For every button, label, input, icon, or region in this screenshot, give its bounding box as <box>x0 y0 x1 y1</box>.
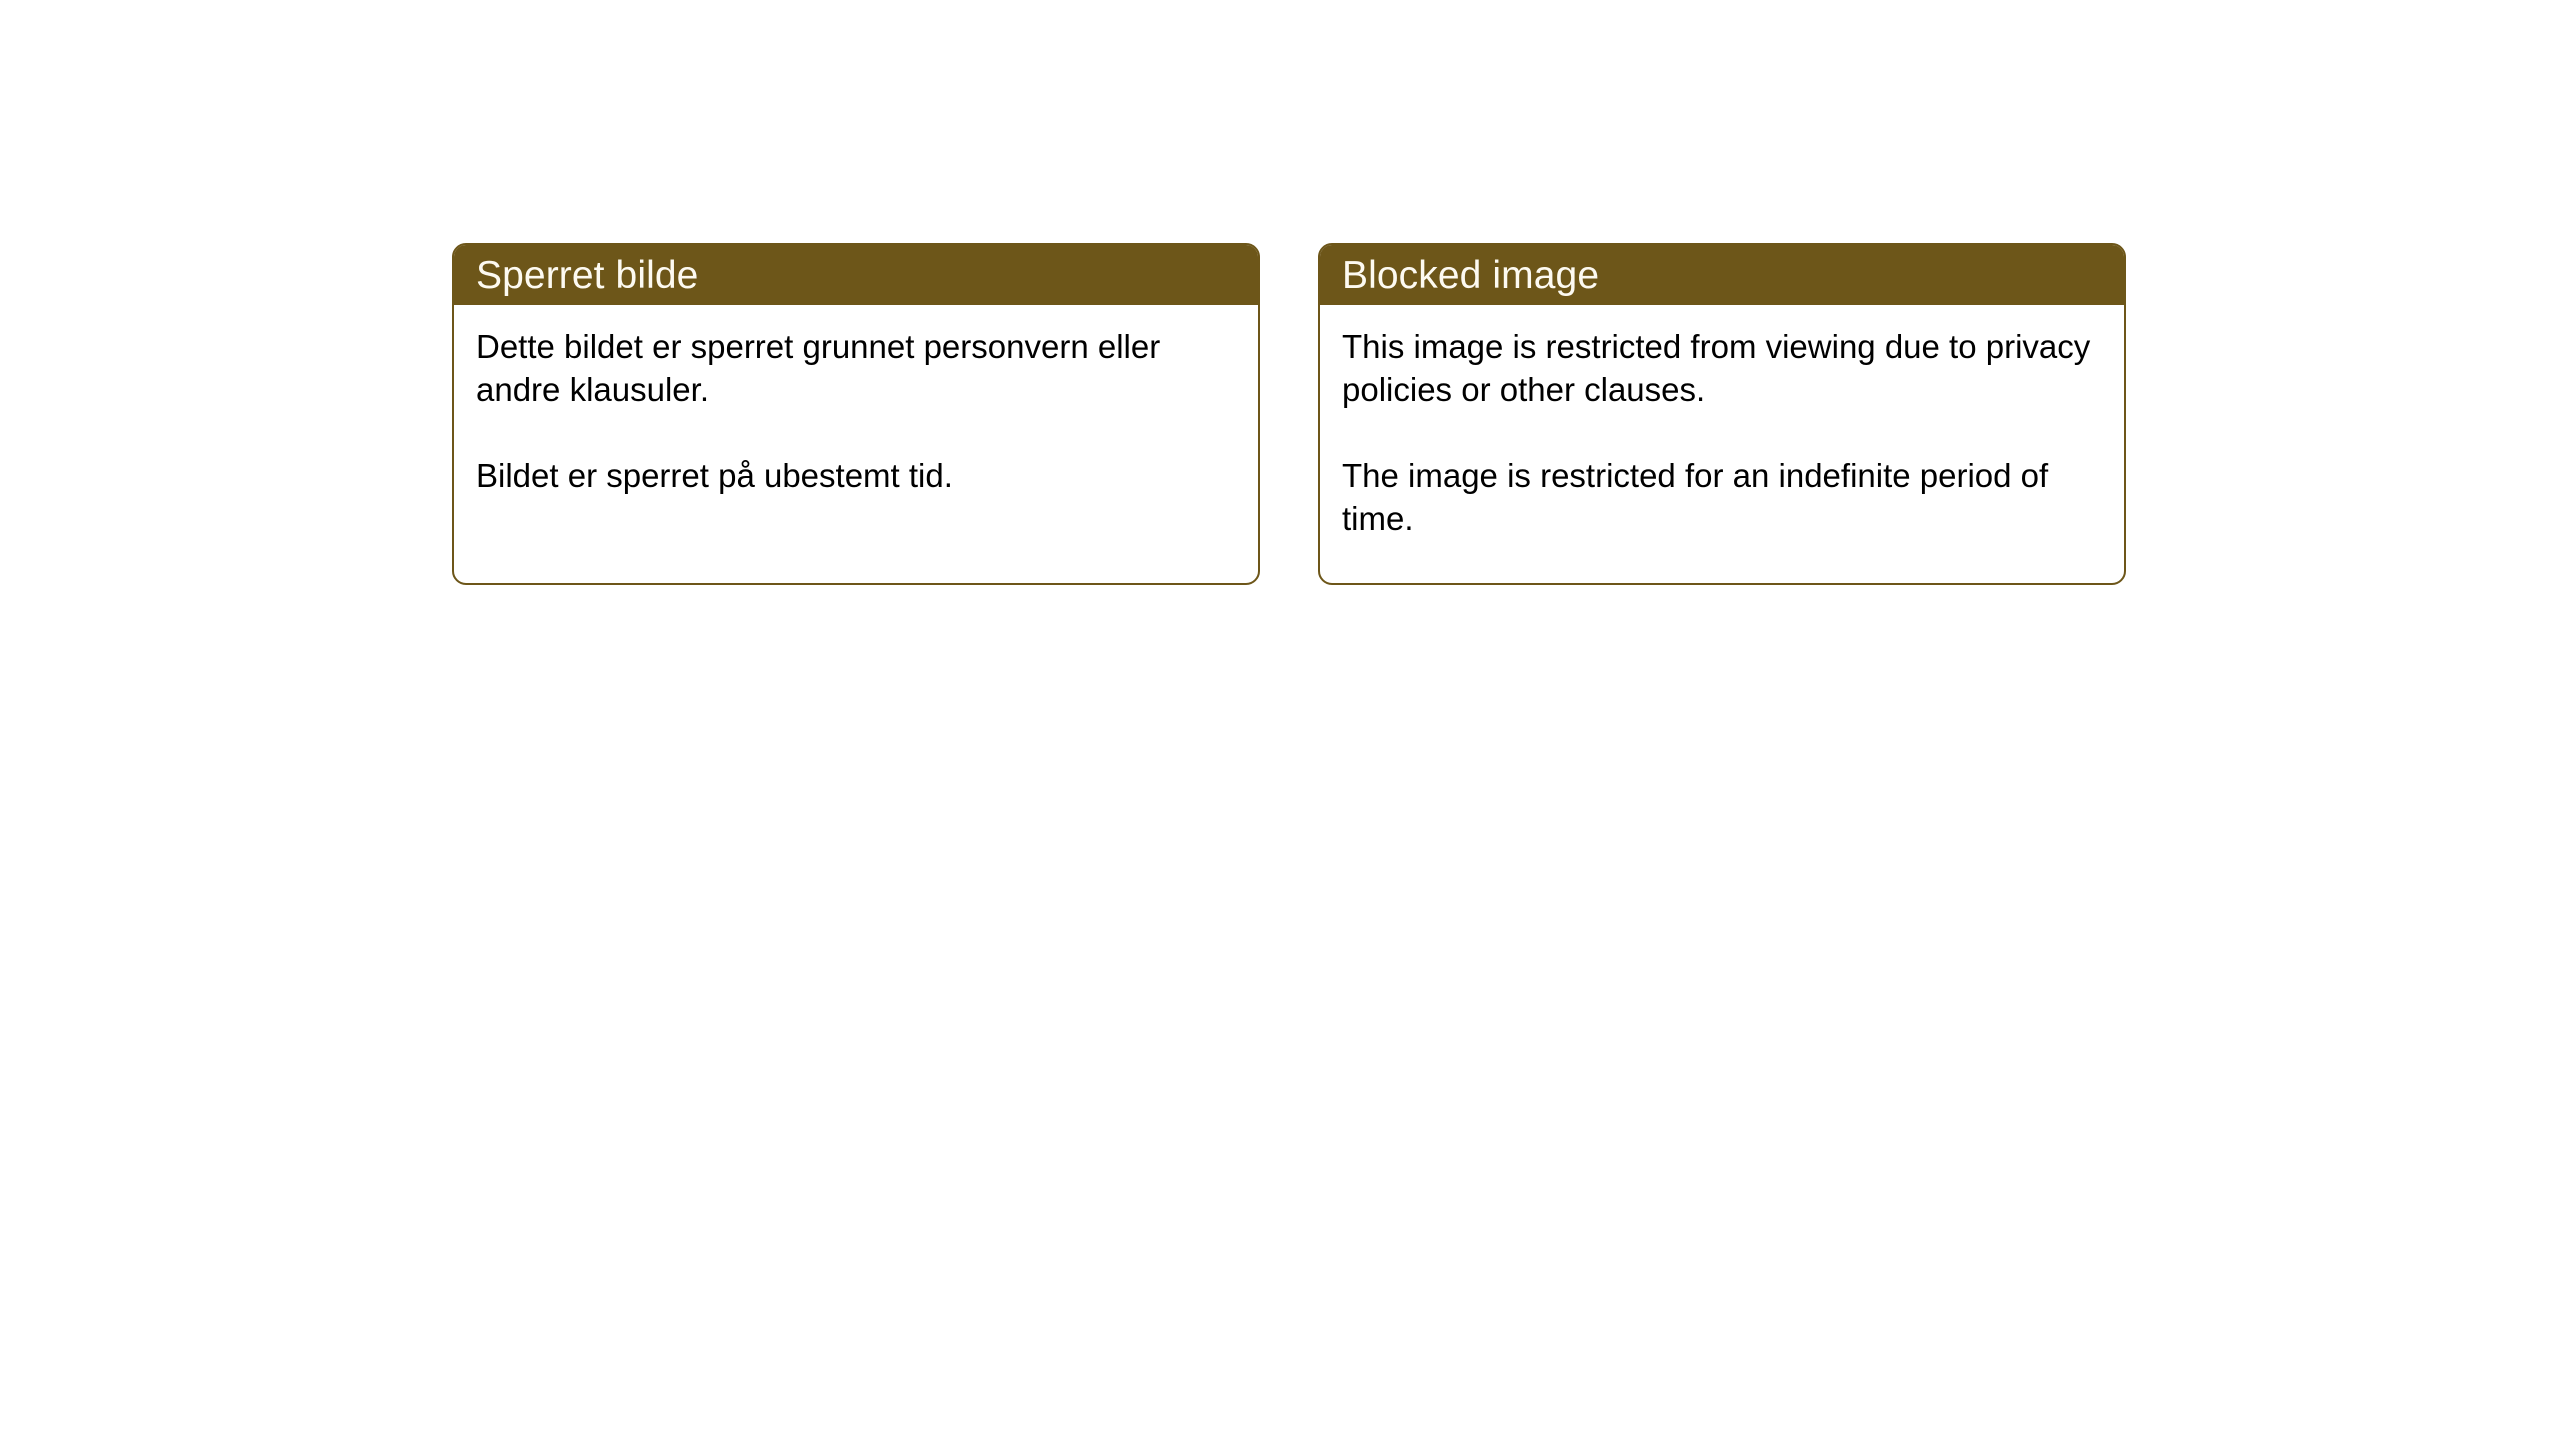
card-header-english: Blocked image <box>1320 245 2124 305</box>
page-canvas: Sperret bilde Dette bildet er sperret gr… <box>0 0 2560 1440</box>
blocked-image-notice-card-norwegian: Sperret bilde Dette bildet er sperret gr… <box>452 243 1260 585</box>
card-header-norwegian: Sperret bilde <box>454 245 1258 305</box>
blocked-image-notice-card-english: Blocked image This image is restricted f… <box>1318 243 2126 585</box>
card-title-norwegian: Sperret bilde <box>476 256 698 295</box>
card-paragraph-duration-english: The image is restricted for an indefinit… <box>1342 454 2098 540</box>
card-title-english: Blocked image <box>1342 256 1599 295</box>
card-body-norwegian: Dette bildet er sperret grunnet personve… <box>454 305 1258 497</box>
card-paragraph-duration-norwegian: Bildet er sperret på ubestemt tid. <box>476 454 1232 497</box>
card-paragraph-privacy-norwegian: Dette bildet er sperret grunnet personve… <box>476 325 1232 411</box>
card-body-english: This image is restricted from viewing du… <box>1320 305 2124 540</box>
card-paragraph-privacy-english: This image is restricted from viewing du… <box>1342 325 2098 411</box>
